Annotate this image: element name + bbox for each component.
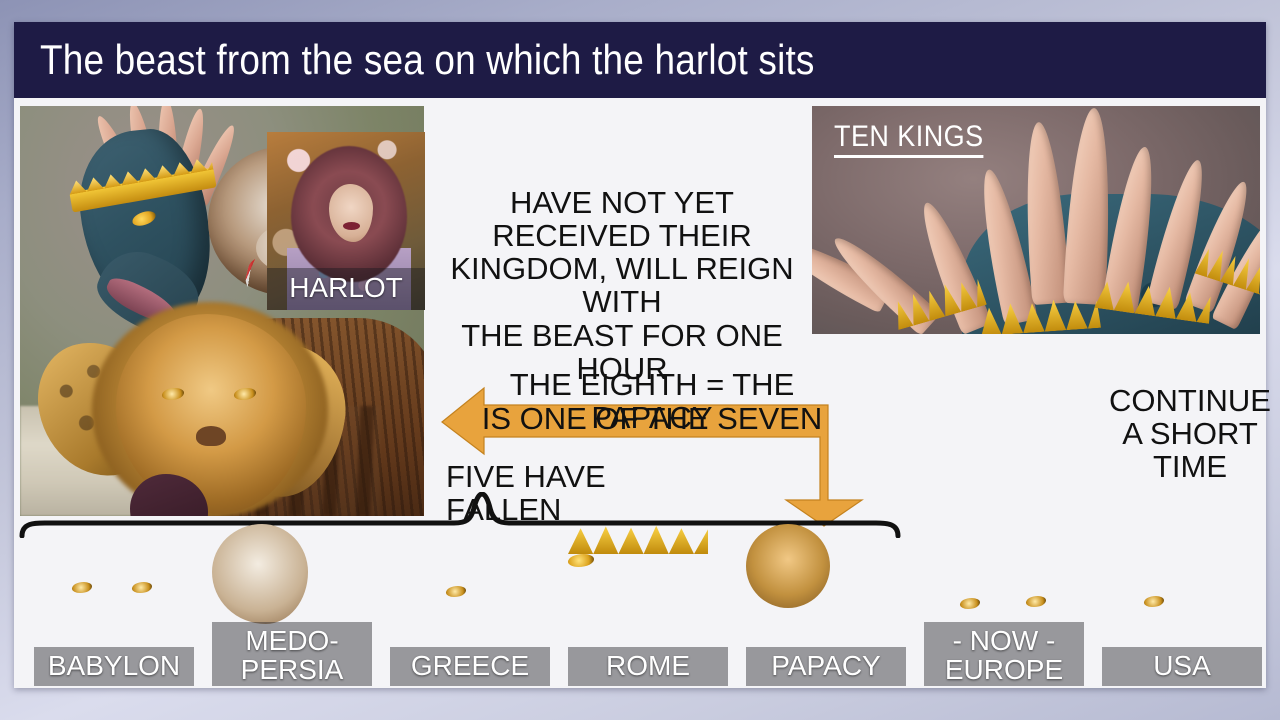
- lion-head-layer: [746, 524, 830, 608]
- kingdom-label-line: ROME: [570, 651, 726, 680]
- center-text-line-1: HAVE NOT YET RECEIVED THEIR: [428, 186, 816, 252]
- harlot-image: HARLOT: [267, 132, 425, 310]
- kingdom-label-line: PAPACY: [748, 651, 904, 680]
- kingdom-thumb-babylon[interactable]: BABYLON: [34, 524, 194, 686]
- continue-text-line-1: CONTINUE: [1102, 384, 1278, 417]
- arrow-text-line-2: IS ONE OF THE SEVEN: [480, 402, 824, 435]
- kingdom-label: - NOW - EUROPE: [924, 622, 1084, 686]
- beast-eye-icon: [960, 598, 980, 609]
- ten-kings-description-text: HAVE NOT YET RECEIVED THEIR KINGDOM, WIL…: [428, 186, 816, 385]
- lion-eye-icon: [72, 582, 92, 593]
- lion-nose-layer: [196, 426, 226, 446]
- bear-face-layer: [212, 524, 308, 624]
- kingdom-label-line: - NOW -: [926, 626, 1082, 655]
- kingdom-thumb-greece[interactable]: GREECE: [390, 524, 550, 686]
- kingdom-label-line: MEDO-: [214, 626, 370, 655]
- kingdom-thumb-medo-persia[interactable]: MEDO- PERSIA: [212, 524, 372, 686]
- kingdom-label-line: USA: [1104, 651, 1260, 680]
- kingdom-thumb-papacy[interactable]: PAPACY: [746, 524, 906, 686]
- ten-kings-caption: TEN KINGS: [834, 120, 984, 158]
- slide-title-bar: The beast from the sea on which the harl…: [14, 22, 1266, 98]
- kingdom-label: USA: [1102, 647, 1262, 686]
- kingdom-thumb-usa[interactable]: USA: [1102, 524, 1262, 686]
- continue-short-time-text: CONTINUE A SHORT TIME: [1102, 384, 1278, 483]
- kingdom-label: GREECE: [390, 647, 550, 686]
- kingdom-label: MEDO- PERSIA: [212, 622, 372, 686]
- kingdom-thumb-now-europe[interactable]: - NOW - EUROPE: [924, 524, 1084, 686]
- kingdom-label-line: EUROPE: [926, 655, 1082, 684]
- ten-kings-image: TEN KINGS: [812, 106, 1260, 334]
- page-title: The beast from the sea on which the harl…: [40, 36, 815, 84]
- lion-eye-icon: [132, 582, 152, 593]
- beast-eye-icon: [1026, 596, 1046, 607]
- harlot-lips-layer: [343, 222, 360, 230]
- kingdom-thumbnail-row: BABYLON MEDO- PERSIA GREECE ROME: [14, 524, 1266, 688]
- slide-canvas: The beast from the sea on which the harl…: [14, 22, 1266, 688]
- leopard-eye-icon: [1144, 596, 1164, 607]
- kingdom-label: ROME: [568, 647, 728, 686]
- kingdom-label-line: GREECE: [392, 651, 548, 680]
- kingdom-label-line: PERSIA: [214, 655, 370, 684]
- continue-text-line-2: A SHORT: [1102, 417, 1278, 450]
- kingdom-label: BABYLON: [34, 647, 194, 686]
- leopard-eye-icon: [446, 586, 466, 597]
- kingdom-thumb-rome[interactable]: ROME: [568, 524, 728, 686]
- kingdom-label: PAPACY: [746, 647, 906, 686]
- center-text-line-2: KINGDOM, WILL REIGN WITH: [428, 252, 816, 318]
- dragon-eye-icon: [568, 554, 594, 567]
- continue-text-line-3: TIME: [1102, 450, 1278, 483]
- crown-icon: [568, 524, 708, 554]
- harlot-caption: HARLOT: [267, 268, 425, 310]
- kingdom-label-line: BABYLON: [36, 651, 192, 680]
